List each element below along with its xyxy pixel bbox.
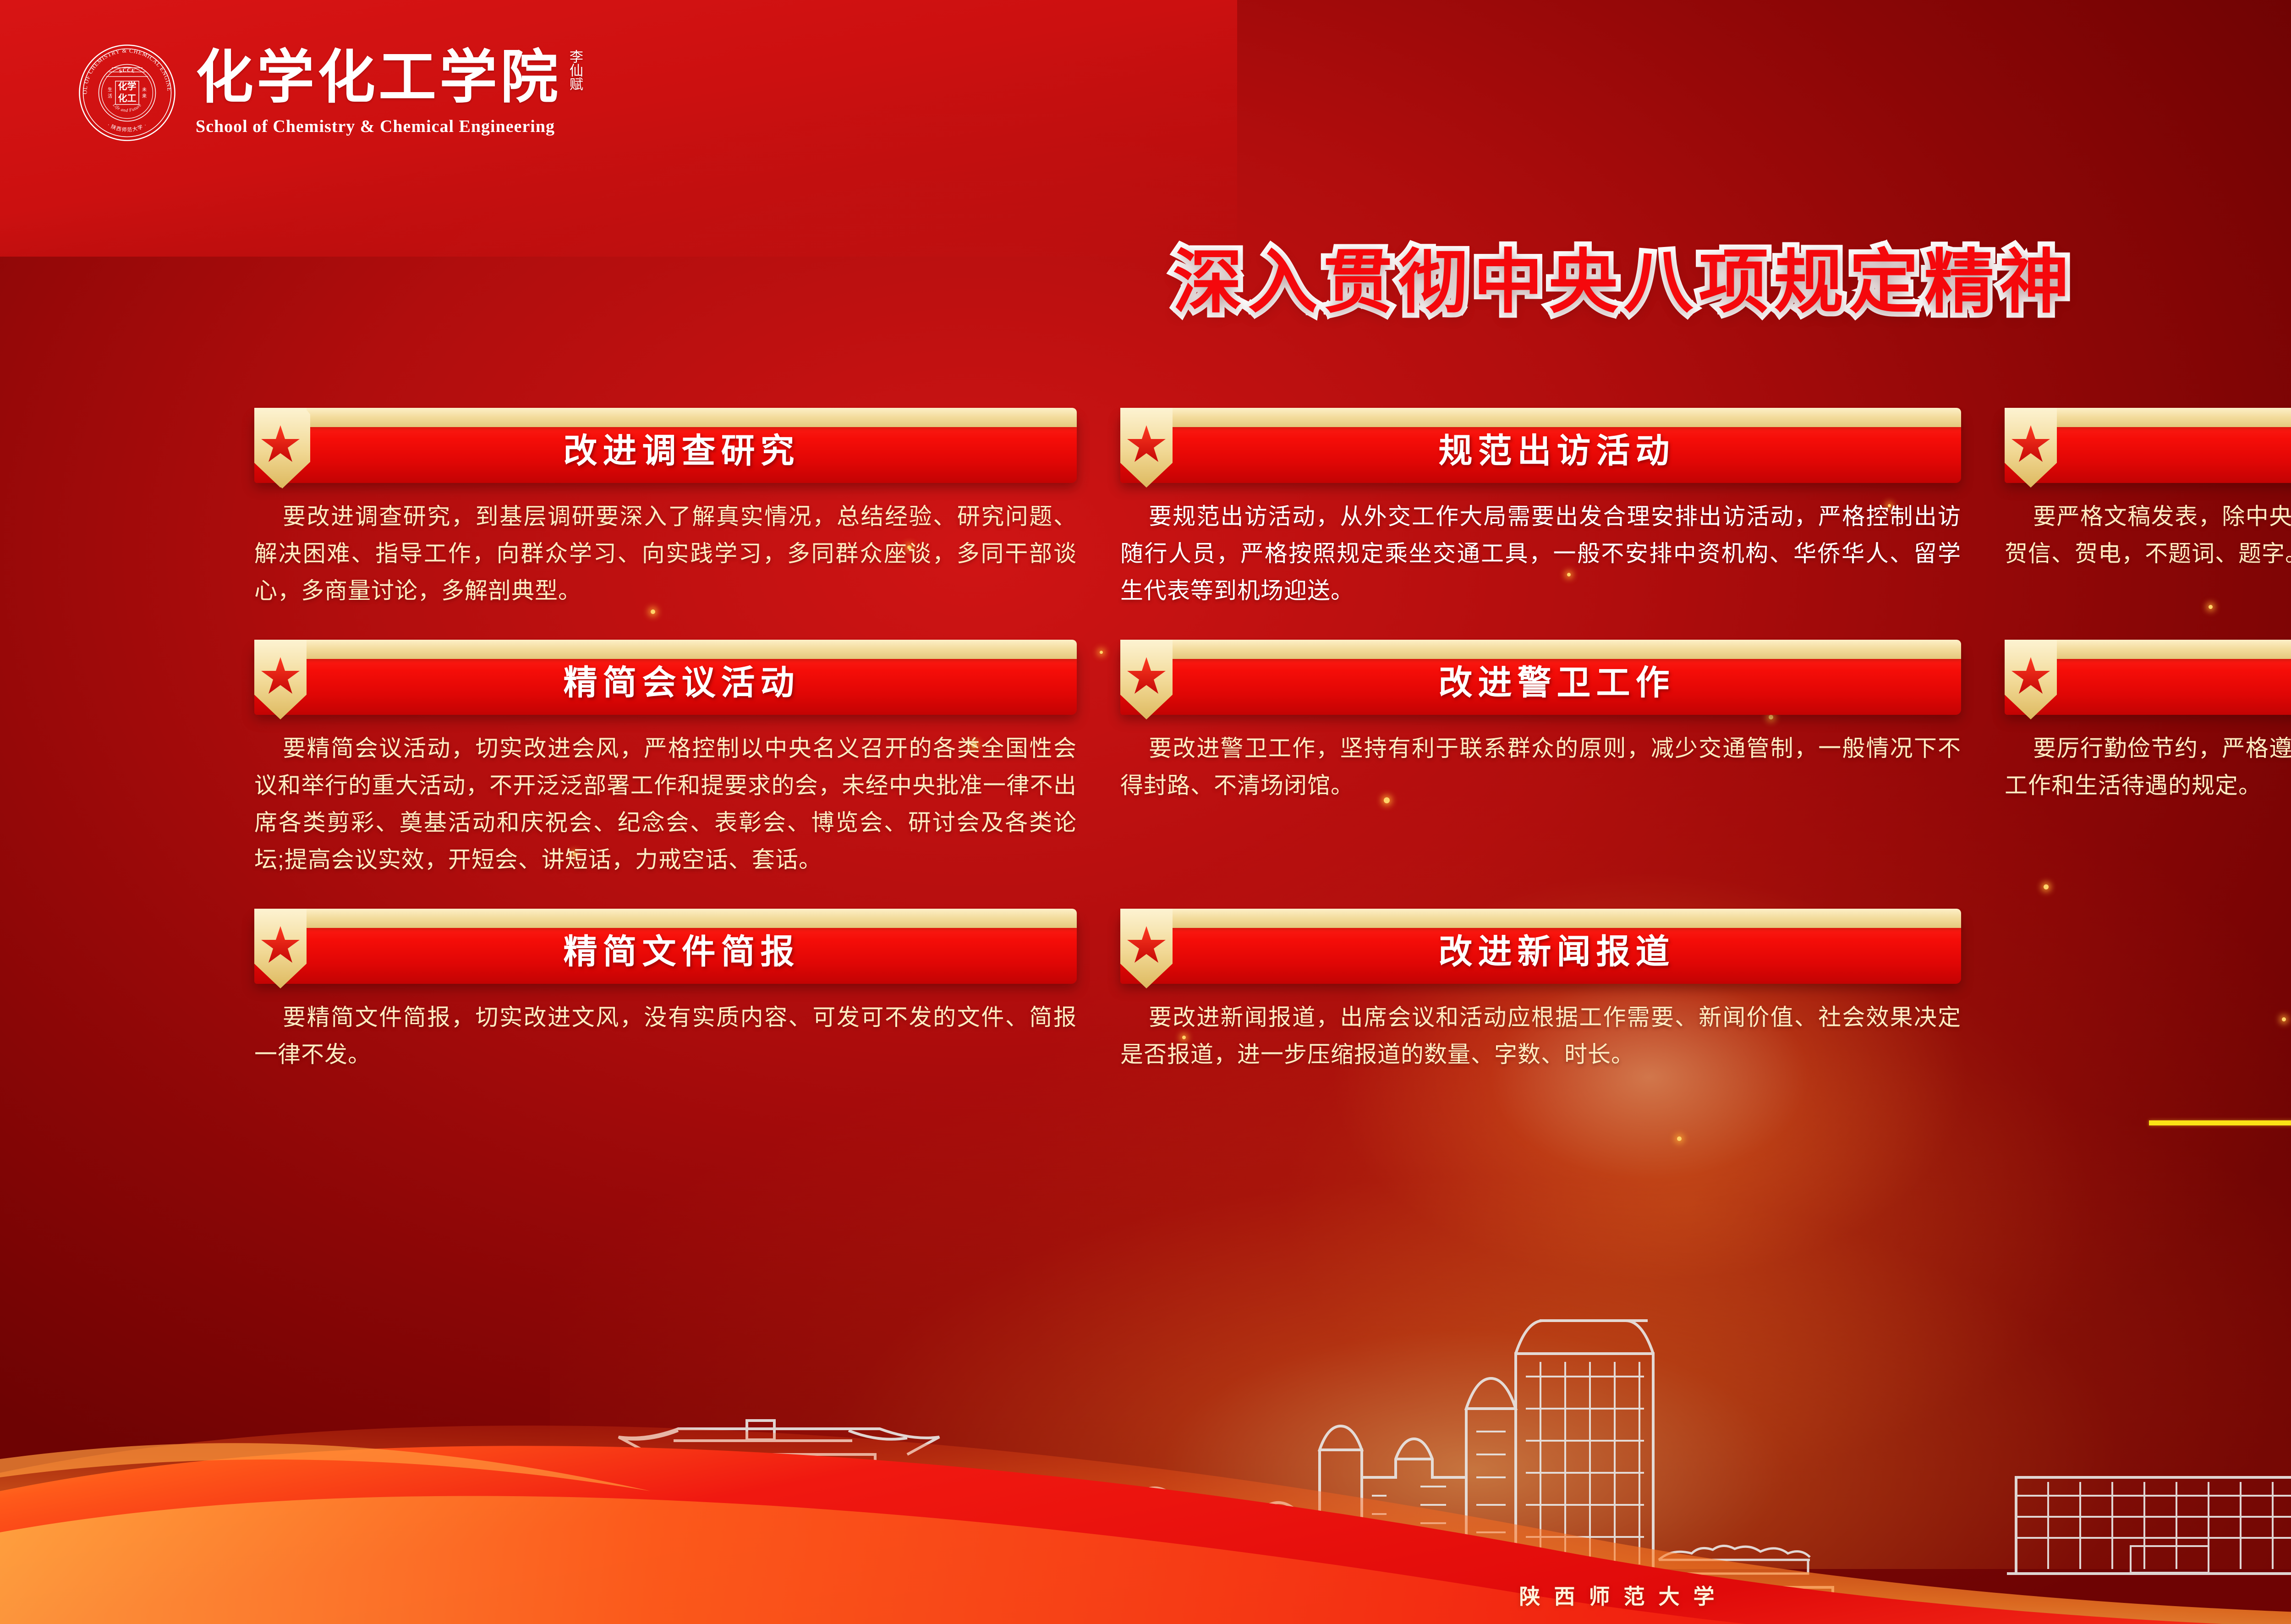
svg-text:Life and Future: Life and Future — [111, 102, 143, 113]
card-body-text: 要规范出访活动，从外交工作大局需要出发合理安排出访活动，严格控制出访随行人员，严… — [1120, 498, 1961, 609]
card-body-text: 要严格文稿发表，除中央统一安排外，个人不公开出版著作、讲话单行本，不发贺信、贺电… — [2005, 498, 2291, 572]
card-banner: 改进警卫工作 — [1120, 640, 1961, 720]
card-item: 规范出访活动 要规范出访活动，从外交工作大局需要出发合理安排出访活动，严格控制出… — [1120, 408, 1961, 609]
card-title: 严格文稿发表 — [2005, 423, 2291, 472]
card-body-text: 要改进新闻报道，出席会议和活动应根据工作需要、新闻价值、社会效果决定是否报道，进… — [1120, 999, 1961, 1073]
svg-text:· 陕西师范大学 ·: · 陕西师范大学 · — [106, 122, 148, 133]
svg-text:SCCE: SCCE — [119, 67, 136, 74]
card-title: 精简文件简报 — [254, 924, 1077, 973]
card-item: 改进调查研究 要改进调查研究，到基层调研要深入了解真实情况，总结经验、研究问题、… — [254, 408, 1077, 609]
five-stars-divider: ★★★★★ — [2149, 1111, 2291, 1135]
svg-text:活: 活 — [108, 93, 112, 99]
card-body-text: 要精简文件简报，切实改进文风，没有实质内容、可发可不发的文件、简报一律不发。 — [254, 999, 1077, 1073]
footer-university-name: 陕西师范大学 — [0, 1580, 2291, 1610]
brand-seal-inscription: 李仙赋 — [568, 49, 581, 91]
card-body-text: 要改进调查研究，到基层调研要深入了解真实情况，总结经验、研究问题、解决困难、指导… — [254, 498, 1077, 609]
svg-text:未: 未 — [142, 87, 147, 93]
card-title: 精简会议活动 — [254, 655, 1077, 704]
announcement-body-4: 深入贯彻中央八项规定精神学习教育 — [2149, 1334, 2291, 1392]
svg-text:化学: 化学 — [118, 81, 137, 92]
svg-text:化工: 化工 — [118, 93, 137, 104]
card-title: 改进新闻报道 — [1120, 924, 1961, 973]
card-banner: 精简会议活动 — [254, 640, 1077, 720]
university-seal-icon: SCHOOL OF CHEMISTRY & CHEMICAL ENGINEERI… — [78, 44, 176, 142]
regulation-cards-grid: 改进调查研究 要改进调查研究，到基层调研要深入了解真实情况，总结经验、研究问题、… — [254, 408, 2291, 1073]
svg-text:来: 来 — [142, 93, 147, 99]
card-banner: 厉行勤俭节约 — [2005, 640, 2291, 720]
card-item: 改进警卫工作 要改进警卫工作，坚持有利于联系群众的原则，减少交通管制，一般情况下… — [1120, 640, 1961, 878]
card-body-text: 要改进警卫工作，坚持有利于联系群众的原则，减少交通管制，一般情况下不得封路、不清… — [1120, 730, 1961, 804]
card-banner: 精简文件简报 — [254, 909, 1077, 989]
announcement-meeting-line: 中央党的建设工作领导小组3月12日召开会议 — [2149, 999, 2291, 1042]
card-body-text: 要精简会议活动，切实改进会风，严格控制以中央名义召开的各类全国性会议和举行的重大… — [254, 730, 1077, 878]
svg-text:生: 生 — [108, 87, 112, 93]
card-banner: 严格文稿发表 — [2005, 408, 2291, 488]
page-title: 深入贯彻中央八项规定精神 — [0, 225, 2291, 326]
announcement-subline: 会议指出 — [2149, 1042, 2291, 1086]
card-item: 严格文稿发表 要严格文稿发表，除中央统一安排外，个人不公开出版著作、讲话单行本，… — [2005, 408, 2291, 609]
card-title: 厉行勤俭节约 — [2005, 655, 2291, 704]
card-item: 改进新闻报道 要改进新闻报道，出席会议和活动应根据工作需要、新闻价值、社会效果决… — [1120, 909, 1961, 1073]
card-title: 规范出访活动 — [1120, 423, 1961, 472]
announcement-body-1: 党中央决定 — [2149, 1159, 2291, 1218]
brand-logo-block: SCHOOL OF CHEMISTRY & CHEMICAL ENGINEERI… — [78, 44, 581, 142]
card-banner: 规范出访活动 — [1120, 408, 1961, 488]
announcement-panel: 中央党的建设工作领导小组3月12日召开会议 会议指出 ★★★★★ 党中央决定 自… — [2149, 999, 2291, 1392]
brand-name-en: School of Chemistry & Chemical Engineeri… — [196, 116, 581, 137]
announcement-body-3: 在全党开展 — [2149, 1276, 2291, 1334]
card-banner: 改进调查研究 — [254, 408, 1077, 488]
announcement-body-2: 自2025年全国两会后至7月 — [2149, 1218, 2291, 1276]
brand-name-cn: 化学化工学院李仙赋 — [196, 49, 581, 107]
card-item: 精简会议活动 要精简会议活动，切实改进会风，严格控制以中央名义召开的各类全国性会… — [254, 640, 1077, 878]
card-title: 改进调查研究 — [254, 423, 1077, 472]
card-body-text: 要厉行勤俭节约，严格遵守廉洁从政有关规定，严格执行住房、车辆配备等有关工作和生活… — [2005, 730, 2291, 804]
card-item: 厉行勤俭节约 要厉行勤俭节约，严格遵守廉洁从政有关规定，严格执行住房、车辆配备等… — [2005, 640, 2291, 878]
card-banner: 改进新闻报道 — [1120, 909, 1961, 989]
card-item: 精简文件简报 要精简文件简报，切实改进文风，没有实质内容、可发可不发的文件、简报… — [254, 909, 1077, 1073]
card-title: 改进警卫工作 — [1120, 655, 1961, 704]
